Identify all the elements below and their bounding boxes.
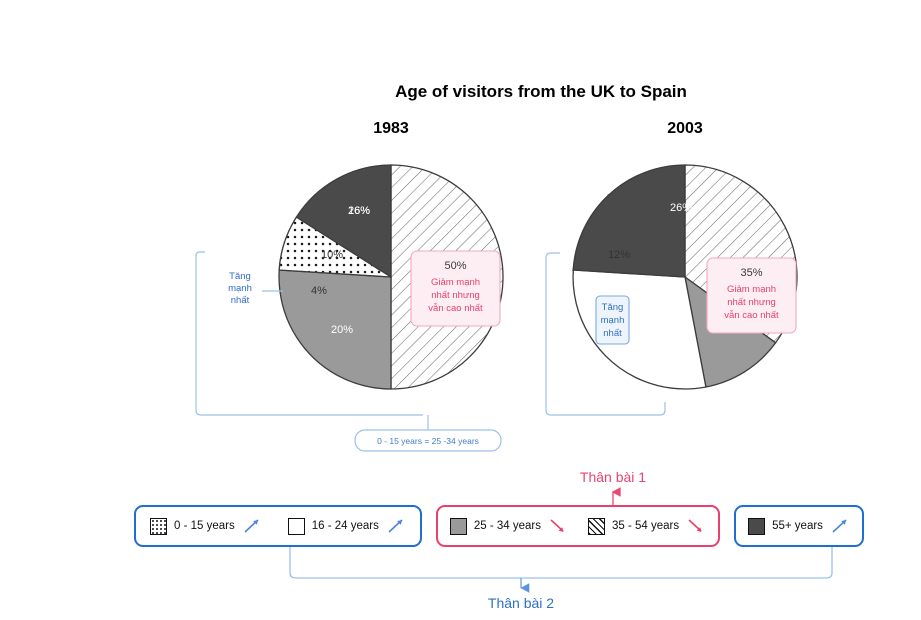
swatch-white-icon [288, 518, 305, 535]
legend-item-16-24-years[interactable]: 16 - 24 years [288, 517, 406, 535]
callout-pie2: 35% Giảm mạnh nhất nhưng vẫn cao nhất [707, 258, 796, 333]
arrow-up-icon [830, 517, 850, 535]
legend: 0 - 15 years 16 - 24 years 25 - 34 years… [134, 504, 894, 548]
swatch-gray-icon [450, 518, 467, 535]
year-label-1983: 1983 [373, 120, 409, 137]
note-pie1-line3: nhất [231, 295, 250, 306]
note-pie1-line1: Tăng [229, 271, 251, 282]
arrow-up-icon [242, 517, 262, 535]
flow-label-1: Thân bài 1 [580, 469, 646, 485]
legend-label: 55+ years [772, 520, 823, 532]
badge-pie2-increase: Tăng mạnh nhất [596, 296, 629, 344]
callout-pie1: 50% Giảm mạnh nhất nhưng vẫn cao nhất [411, 251, 500, 326]
page-title: Age of visitors from the UK to Spain [395, 82, 687, 101]
legend-label: 16 - 24 years [312, 520, 379, 532]
legend-group-decrease[interactable]: 25 - 34 years 35 - 54 years [436, 505, 720, 547]
pie1-label-16-24: 4% [311, 285, 327, 297]
arrow-down-icon [548, 517, 568, 535]
legend-label: 25 - 34 years [474, 520, 541, 532]
pie2-label-55plus: 26% [670, 202, 692, 214]
legend-item-25-34-years[interactable]: 25 - 34 years [450, 517, 568, 535]
callout-pie2-line3: vẫn cao nhất [724, 310, 779, 321]
badge-pie2-line3: nhất [603, 328, 622, 339]
arrow-down-icon [686, 517, 706, 535]
legend-label: 0 - 15 years [174, 520, 235, 532]
legend-item-0-15-years[interactable]: 0 - 15 years [150, 517, 262, 535]
callout-pie1-line2: nhất nhưng [431, 290, 480, 301]
connector-label-text: 0 - 15 years = 25 -34 years [377, 436, 479, 446]
legend-label: 35 - 54 years [612, 520, 679, 532]
connector-label-pill: 0 - 15 years = 25 -34 years [355, 430, 501, 451]
callout-pie1-line3: vẫn cao nhất [428, 303, 483, 314]
legend-group-increase-left[interactable]: 0 - 15 years 16 - 24 years [134, 505, 422, 547]
arrow-up-icon [386, 517, 406, 535]
callout-pie2-line1: Giảm mạnh [727, 284, 776, 295]
pie2-label-25-34: 12% [664, 344, 686, 356]
callout-pie2-pct: 35% [740, 267, 762, 279]
callout-pie1-pct: 50% [444, 260, 466, 272]
swatch-dark-icon [748, 518, 765, 535]
legend-item-35-54-years[interactable]: 35 - 54 years [588, 517, 706, 535]
callout-pie1-line1: Giảm mạnh [431, 277, 480, 288]
badge-pie2-line2: mạnh [601, 315, 625, 326]
bottom-bracket [290, 545, 832, 578]
flow-label-2: Thân bài 2 [488, 595, 554, 611]
pie1-label-25-34: 20% [331, 324, 353, 336]
legend-group-increase-right[interactable]: 55+ years [734, 505, 864, 547]
slide-canvas: Age of visitors from the UK to Spain 198… [0, 0, 921, 620]
swatch-hatch-icon [588, 518, 605, 535]
swatch-dotted-icon [150, 518, 167, 535]
note-pie1-increase: Tăng mạnh nhất [228, 271, 283, 306]
callout-pie2-line2: nhất nhưng [727, 297, 776, 308]
badge-pie2-line1: Tăng [602, 302, 624, 313]
legend-item-55-plus-years[interactable]: 55+ years [748, 517, 850, 535]
pie2-label-0-15: 12% [608, 249, 630, 261]
note-pie1-line2: mạnh [228, 283, 252, 294]
year-label-2003: 2003 [667, 120, 703, 137]
pie1-label-0-15: 10% [321, 249, 343, 261]
